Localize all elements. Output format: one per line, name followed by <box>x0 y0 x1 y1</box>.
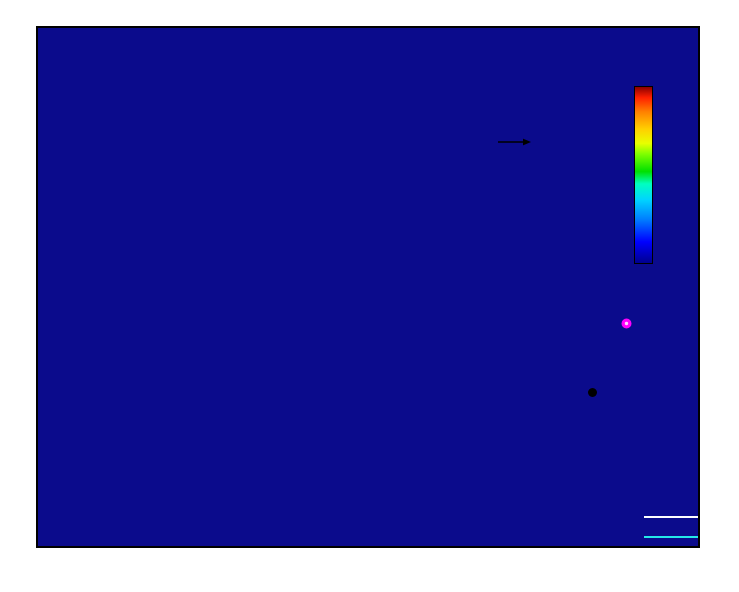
map-plot-area[interactable] <box>36 26 700 548</box>
isobath-1000m-legend-line <box>644 536 698 538</box>
isobath-200m-legend-line <box>644 516 698 518</box>
argo-float-marker-icon <box>621 318 632 329</box>
reference-vector-arrow-icon <box>497 137 531 147</box>
sst-age-map-canvas <box>38 28 698 546</box>
dongara-location-dot <box>588 388 597 397</box>
colorbar <box>634 86 653 264</box>
figure-root <box>0 0 739 592</box>
colorbar-gradient <box>635 87 652 263</box>
